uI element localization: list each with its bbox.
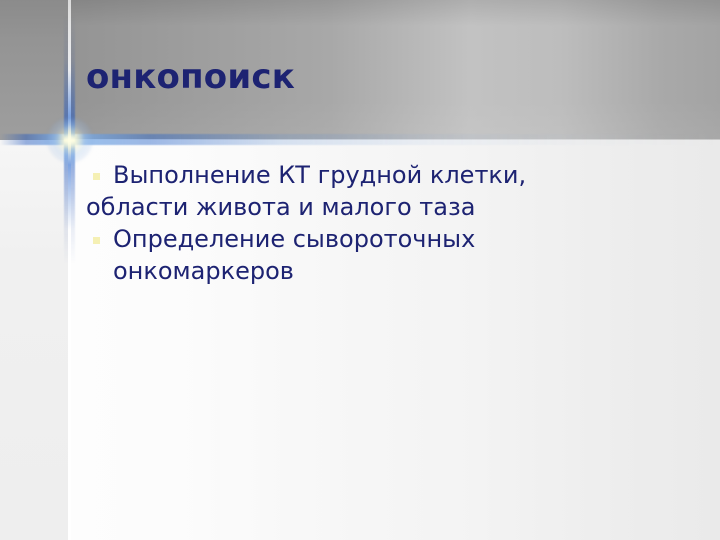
bullet-item-label: области живота и малого таза bbox=[86, 193, 475, 221]
bullet-item-continuation: онкомаркеров bbox=[86, 256, 646, 288]
slide-background-left-strip-lower bbox=[0, 140, 68, 540]
bullet-item-label: Выполнение КТ грудной клетки, bbox=[113, 161, 526, 189]
bullet-item-continuation: области живота и малого таза bbox=[86, 192, 646, 224]
slide-body: Выполнение КТ грудной клетки, области жи… bbox=[86, 160, 646, 288]
bullet-item-label: Определение сывороточных bbox=[113, 225, 475, 253]
horizontal-beam-decoration bbox=[0, 134, 720, 145]
bullet-item: Выполнение КТ грудной клетки, bbox=[86, 160, 646, 192]
presentation-slide: онкопоиск Выполнение КТ грудной клетки, … bbox=[0, 0, 720, 540]
slide-title: онкопоиск bbox=[86, 60, 686, 96]
square-bullet-icon bbox=[93, 173, 100, 180]
bullet-item: Определение сывороточных bbox=[86, 224, 646, 256]
bullet-item-label: онкомаркеров bbox=[113, 257, 294, 285]
square-bullet-icon bbox=[93, 237, 100, 244]
cross-glow-icon bbox=[47, 117, 93, 163]
vertical-divider-line bbox=[68, 0, 71, 540]
